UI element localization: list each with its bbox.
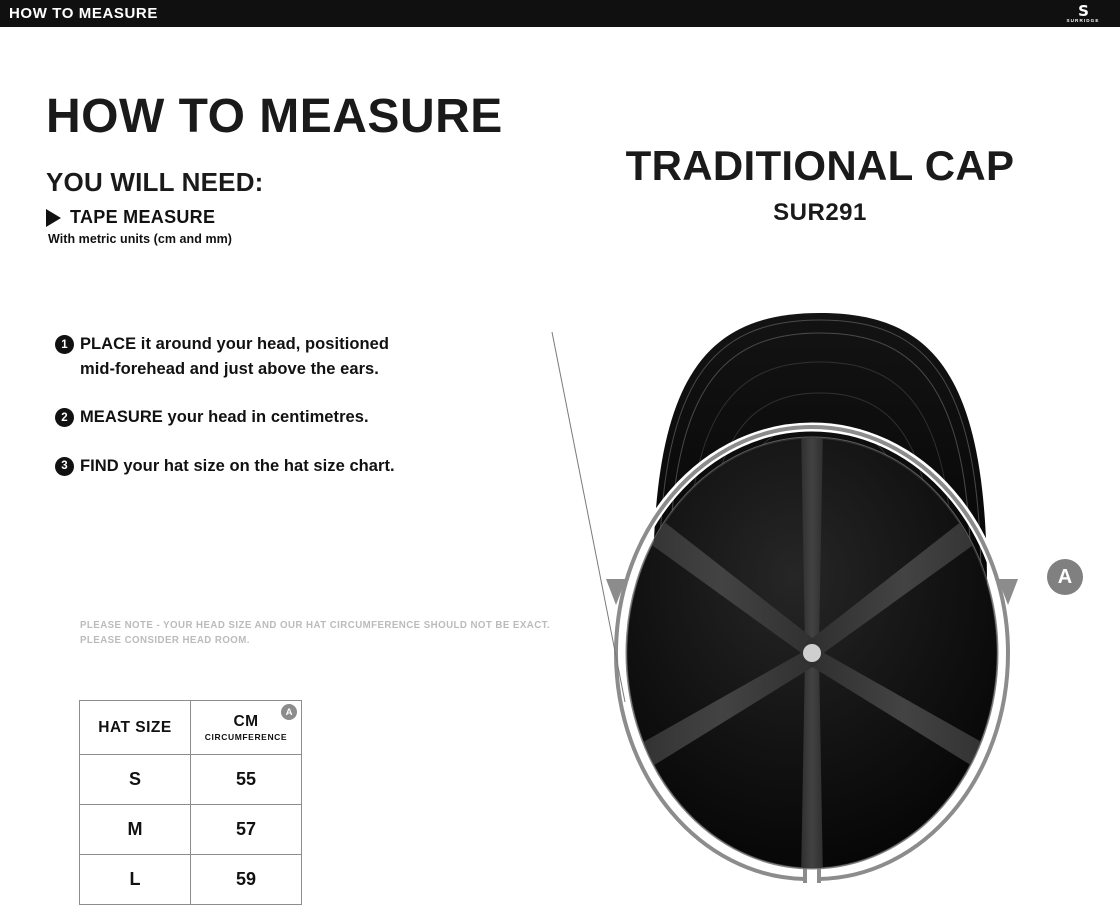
surridge-wordmark: SURRIDGE xyxy=(1066,18,1099,24)
column-header-cm: CM CIRCUMFERENCE A xyxy=(191,701,302,755)
tape-measure-item: TAPE MEASURE xyxy=(46,207,215,228)
surridge-logo: S SURRIDGE xyxy=(1054,1,1112,26)
step-text: MEASURE your head in centimetres. xyxy=(80,405,369,430)
column-header-hat-size-label: HAT SIZE xyxy=(98,719,171,736)
column-header-hat-size: HAT SIZE xyxy=(80,701,191,755)
step-number-badge: 2 xyxy=(55,408,74,427)
cell-hat-size: M xyxy=(80,805,191,855)
step-number-badge: 3 xyxy=(55,457,74,476)
page-title: HOW TO MEASURE xyxy=(46,91,503,143)
list-item: 3 FIND your hat size on the hat size cha… xyxy=(55,454,455,479)
cell-value: 59 xyxy=(236,869,256,889)
tape-measure-label: TAPE MEASURE xyxy=(70,207,215,228)
please-note-disclaimer: PLEASE NOTE - YOUR HEAD SIZE AND OUR HAT… xyxy=(80,619,560,648)
cell-value: L xyxy=(130,869,141,889)
table-row: S 55 xyxy=(80,755,302,805)
product-name: TRADITIONAL CAP xyxy=(520,142,1120,190)
cell-hat-size: L xyxy=(80,855,191,905)
tape-measure-sublabel: With metric units (cm and mm) xyxy=(48,232,232,246)
table-header-row: HAT SIZE CM CIRCUMFERENCE A xyxy=(80,701,302,755)
product-code: SUR291 xyxy=(520,199,1120,227)
list-item: 2 MEASURE your head in centimetres. xyxy=(55,405,455,430)
table-row: L 59 xyxy=(80,855,302,905)
measurement-badge-a: A xyxy=(281,704,297,720)
cell-cm: 55 xyxy=(191,755,302,805)
product-diagram-column: TRADITIONAL CAP SUR291 xyxy=(520,27,1120,883)
cell-value: M xyxy=(128,819,143,839)
step-text: PLACE it around your head, positioned mi… xyxy=(80,332,410,381)
top-bar-title: HOW TO MEASURE xyxy=(9,5,158,22)
list-item: 1 PLACE it around your head, positioned … xyxy=(55,332,455,381)
cap-diagram xyxy=(520,257,1120,883)
column-header-cm-sublabel: CIRCUMFERENCE xyxy=(192,732,300,742)
cap-button xyxy=(803,644,821,662)
table-row: M 57 xyxy=(80,805,302,855)
cell-cm: 57 xyxy=(191,805,302,855)
column-header-cm-label: CM xyxy=(233,713,258,730)
hat-size-table: HAT SIZE CM CIRCUMFERENCE A S 55 M 57 L … xyxy=(79,700,302,905)
play-triangle-icon xyxy=(46,209,61,227)
cell-value: 57 xyxy=(236,819,256,839)
you-will-need-heading: YOU WILL NEED: xyxy=(46,167,264,198)
step-number-badge: 1 xyxy=(55,335,74,354)
cell-value: S xyxy=(129,769,141,789)
cell-hat-size: S xyxy=(80,755,191,805)
callout-marker-a: A xyxy=(1047,559,1083,595)
steps-list: 1 PLACE it around your head, positioned … xyxy=(55,332,455,502)
surridge-s-mark-icon: S xyxy=(1078,4,1088,18)
instructions-column: HOW TO MEASURE YOU WILL NEED: TAPE MEASU… xyxy=(0,27,560,883)
cell-value: 55 xyxy=(236,769,256,789)
step-text: FIND your hat size on the hat size chart… xyxy=(80,454,395,479)
cell-cm: 59 xyxy=(191,855,302,905)
top-bar: HOW TO MEASURE S SURRIDGE xyxy=(0,0,1120,27)
callout-leader-line xyxy=(552,332,625,702)
